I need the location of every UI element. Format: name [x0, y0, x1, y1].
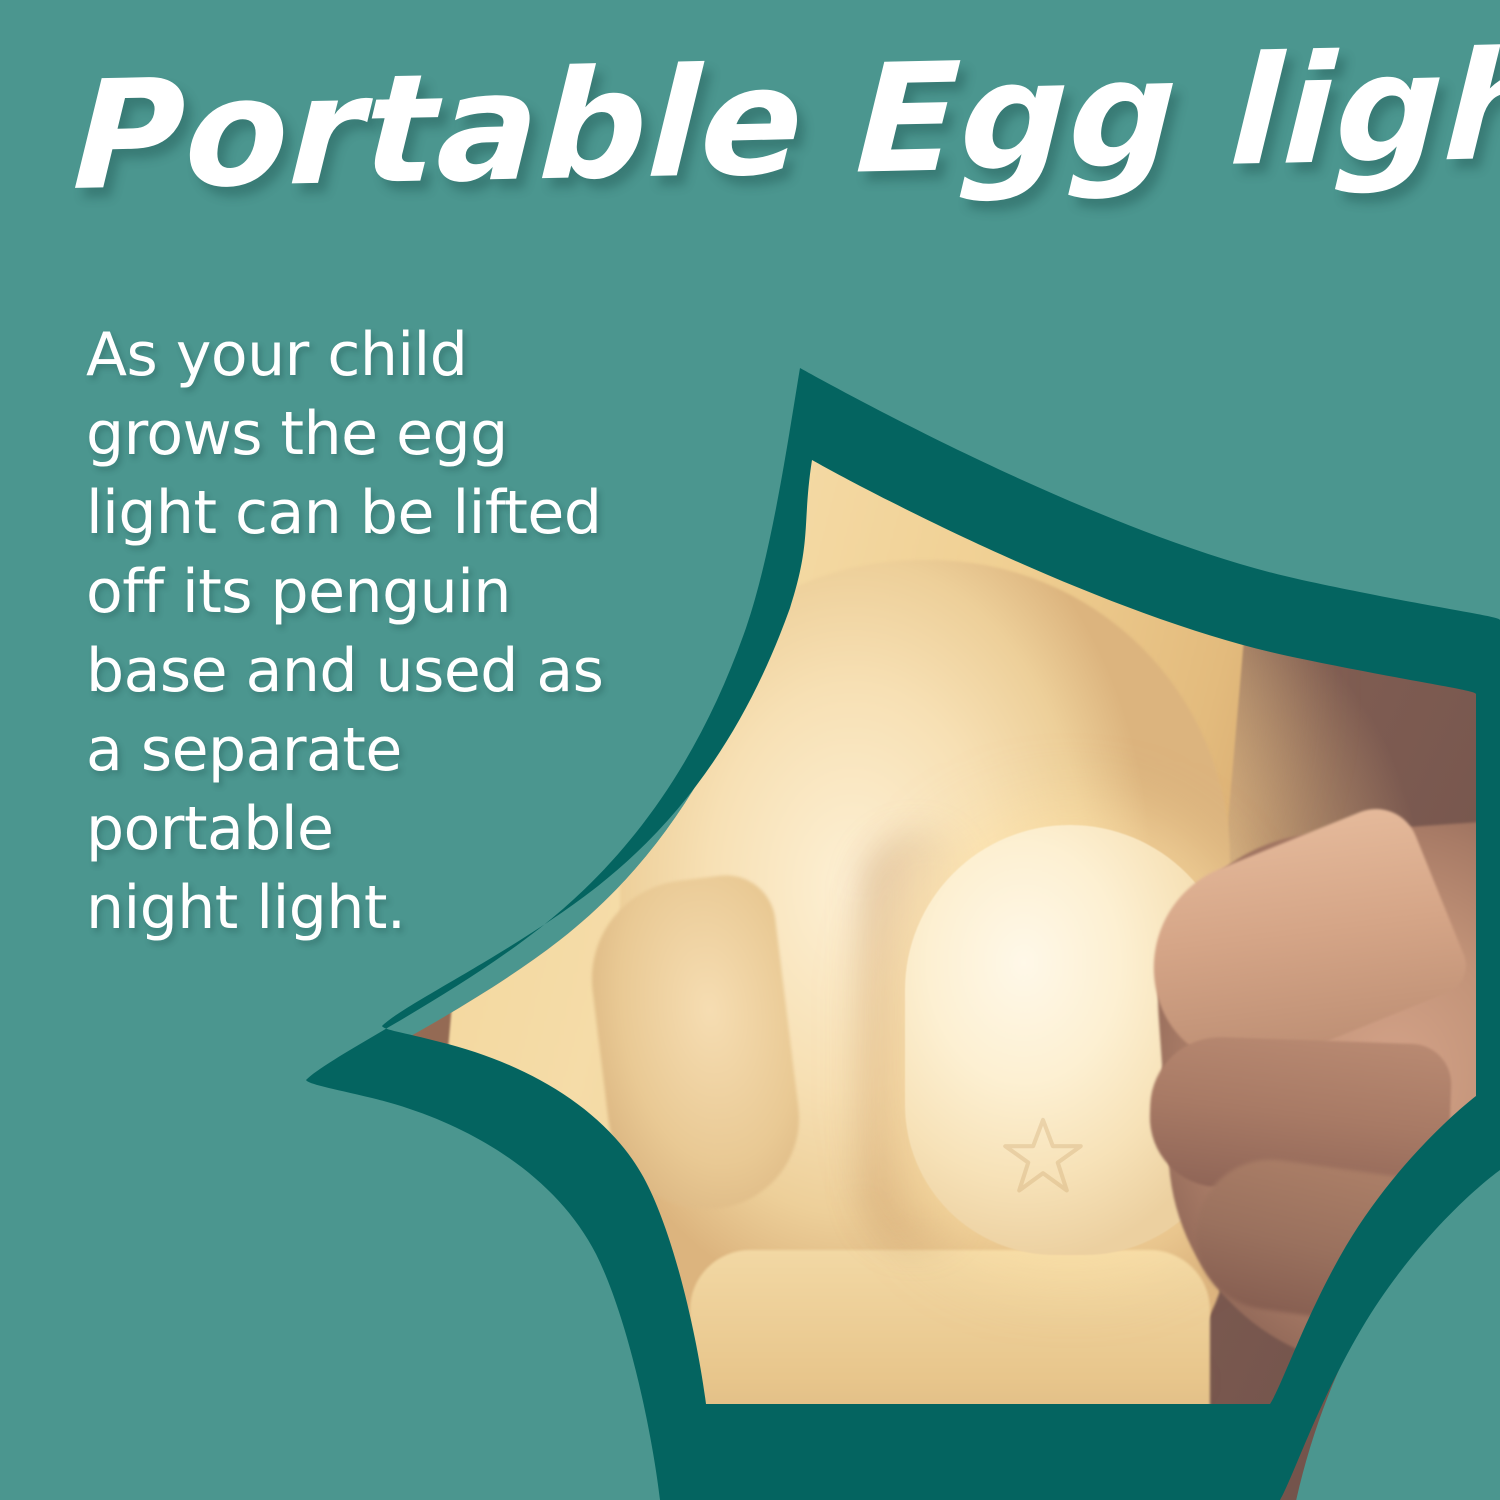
star-emboss-icon [1000, 1115, 1086, 1197]
penguin-plinth [690, 1250, 1210, 1500]
product-feature-panel: Portable Egg light As your child grows t… [0, 0, 1500, 1500]
description-text: As your child grows the egg light can be… [86, 316, 706, 948]
page-title: Portable Egg light [71, 37, 1260, 212]
